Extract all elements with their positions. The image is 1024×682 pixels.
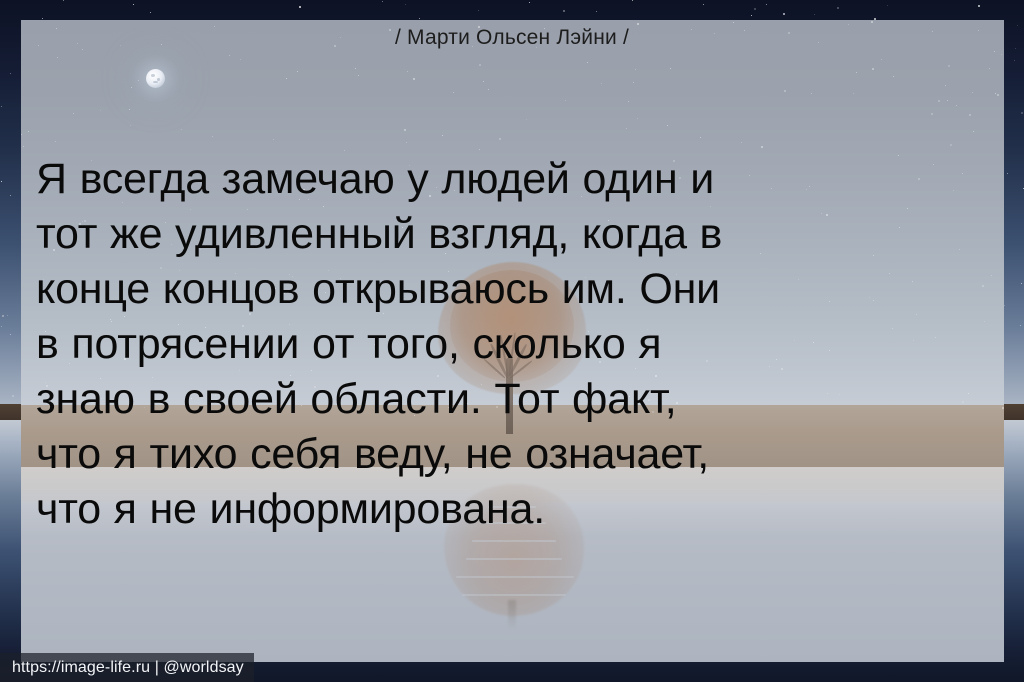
watermark-label: https://image-life.ru | @worldsay [12, 659, 244, 677]
quote-line: в потрясении от того, сколько я [36, 317, 976, 372]
quote-line: конце концов открываюсь им. Они [36, 262, 976, 317]
tree-reflection-trunk [508, 600, 516, 630]
author-attribution: / Марти Ольсен Лэйни / [0, 26, 1024, 50]
quote-line: Я всегда замечаю у людей один и [36, 152, 976, 207]
panel-moon-icon [146, 69, 165, 88]
quote-line: что я тихо себя веду, не означает, [36, 427, 976, 482]
quote-card: / Марти Ольсен Лэйни / Я всегда замечаю … [0, 0, 1024, 682]
quote-line: знаю в своей области. Тот факт, [36, 372, 976, 427]
quote-text: Я всегда замечаю у людей один итот же уд… [36, 152, 976, 537]
watermark-footer: https://image-life.ru | @worldsay [0, 653, 254, 682]
quote-line: тот же удивленный взгляд, когда в [36, 207, 976, 262]
quote-line: что я не информирована. [36, 482, 976, 537]
